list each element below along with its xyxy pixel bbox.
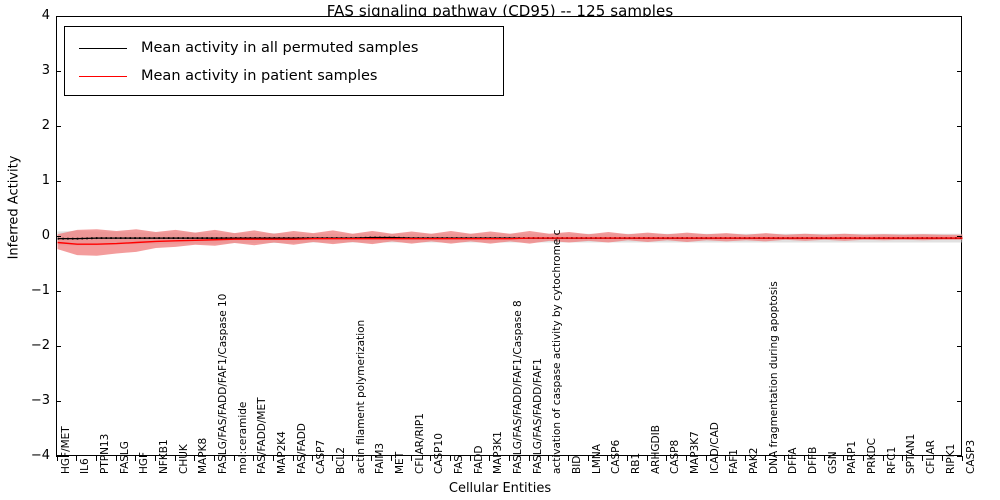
x-tick-mark — [332, 456, 333, 461]
x-tick-mark — [627, 456, 628, 461]
y-tick-label: 4 — [10, 9, 50, 22]
x-tick-label: FAS — [454, 455, 465, 474]
x-tick-label: CFLAR — [926, 440, 937, 474]
x-tick-label: FASLG — [120, 441, 131, 474]
x-tick-mark — [725, 456, 726, 461]
x-tick-mark — [607, 456, 608, 461]
legend-label-patient: Mean activity in patient samples — [141, 68, 377, 84]
x-tick-label: PRKDC — [867, 438, 878, 474]
y-tick-mark — [957, 181, 962, 182]
x-tick-mark — [352, 456, 353, 461]
x-tick-mark — [883, 456, 884, 461]
x-tick-mark — [784, 456, 785, 461]
x-tick-label: FAS/FADD — [297, 423, 308, 474]
y-tick-mark — [957, 291, 962, 292]
x-tick-mark — [666, 456, 667, 461]
legend-swatch-patient — [79, 76, 127, 77]
x-tick-label: SPTAN1 — [906, 434, 917, 474]
x-tick-label: MAPK8 — [198, 438, 209, 474]
x-tick-label: FAF1 — [729, 449, 740, 474]
x-tick-label: PARP1 — [847, 441, 858, 474]
x-tick-mark — [568, 456, 569, 461]
x-tick-mark — [214, 456, 215, 461]
x-tick-mark — [804, 456, 805, 461]
x-tick-label: DFFB — [808, 447, 819, 474]
y-tick-label: 2 — [10, 119, 50, 132]
y-tick-mark — [56, 16, 61, 17]
x-tick-label: MAP3K1 — [493, 431, 504, 474]
x-tick-mark — [371, 456, 372, 461]
x-tick-label: DFFA — [788, 448, 799, 474]
x-tick-mark — [76, 456, 77, 461]
x-tick-mark — [529, 456, 530, 461]
x-tick-mark — [391, 456, 392, 461]
x-tick-mark — [312, 456, 313, 461]
x-tick-label: HGF — [139, 452, 150, 474]
x-tick-mark — [116, 456, 117, 461]
x-tick-label: MAP3K7 — [690, 431, 701, 474]
x-tick-mark — [253, 456, 254, 461]
x-tick-label: FAIM3 — [375, 443, 386, 474]
figure: FAS signaling pathway (CD95) -- 125 samp… — [0, 0, 1000, 500]
x-tick-mark — [902, 456, 903, 461]
x-tick-label: RIPK1 — [946, 444, 957, 474]
y-tick-mark — [56, 236, 61, 237]
y-tick-mark — [957, 126, 962, 127]
legend-label-permuted: Mean activity in all permuted samples — [141, 40, 418, 56]
x-tick-label: RB1 — [631, 453, 642, 474]
legend-swatch-permuted — [79, 48, 127, 49]
x-tick-label: CASP8 — [670, 440, 681, 474]
x-tick-mark — [489, 456, 490, 461]
y-tick-label: −3 — [10, 394, 50, 407]
x-tick-label: DNA fragmentation during apoptosis — [769, 281, 780, 474]
x-tick-label: FASLG/FAS/FADD/FAF1/Caspase 8 — [513, 300, 524, 474]
y-tick-mark — [56, 181, 61, 182]
x-tick-mark — [135, 456, 136, 461]
x-tick-mark — [824, 456, 825, 461]
y-tick-mark — [957, 236, 962, 237]
x-tick-label: CASP3 — [966, 440, 977, 474]
x-tick-mark — [647, 456, 648, 461]
x-tick-label: activation of caspase activity by cytoch… — [552, 230, 563, 474]
legend: Mean activity in all permuted samples Me… — [64, 26, 504, 96]
x-tick-label: CHUK — [179, 444, 190, 474]
y-tick-label: 3 — [10, 64, 50, 77]
x-tick-mark — [942, 456, 943, 461]
y-tick-label: −4 — [10, 449, 50, 462]
x-tick-label: MAP2K4 — [277, 431, 288, 474]
x-tick-label: IL6 — [80, 458, 91, 474]
y-tick-mark — [56, 291, 61, 292]
x-tick-label: FAS/FADD/MET — [257, 397, 268, 474]
x-tick-mark — [686, 456, 687, 461]
x-tick-mark — [430, 456, 431, 461]
x-tick-mark — [470, 456, 471, 461]
x-tick-mark — [57, 456, 58, 461]
y-tick-label: 0 — [10, 229, 50, 242]
x-tick-label: LMNA — [592, 444, 603, 474]
x-tick-label: CASP6 — [611, 440, 622, 474]
x-tick-label: GSN — [828, 451, 839, 474]
y-tick-mark — [56, 346, 61, 347]
x-tick-label: RFC1 — [887, 447, 898, 474]
x-tick-label: ICAD/CAD — [710, 422, 721, 474]
y-tick-label: 1 — [10, 174, 50, 187]
x-tick-label: MET — [395, 452, 406, 474]
x-tick-label: PTPN13 — [100, 434, 111, 474]
x-tick-mark — [962, 456, 963, 461]
x-tick-label: actin filament polymerization — [356, 320, 367, 474]
x-tick-mark — [411, 456, 412, 461]
x-tick-mark — [765, 456, 766, 461]
x-tick-label: FASLG/FAS/FADD/FAF1/Caspase 10 — [218, 294, 229, 474]
x-tick-mark — [273, 456, 274, 461]
x-axis-label: Cellular Entities — [0, 481, 1000, 496]
y-tick-mark — [957, 71, 962, 72]
x-tick-label: PAK2 — [749, 448, 760, 474]
x-tick-mark — [588, 456, 589, 461]
legend-item-patient: Mean activity in patient samples — [75, 62, 493, 90]
x-tick-label: NFKB1 — [159, 439, 170, 474]
x-tick-label: CASP10 — [434, 433, 445, 474]
x-tick-mark — [194, 456, 195, 461]
legend-item-permuted: Mean activity in all permuted samples — [75, 34, 493, 62]
x-tick-mark — [548, 456, 549, 461]
x-tick-mark — [293, 456, 294, 461]
x-tick-mark — [706, 456, 707, 461]
x-tick-label: FASLG/FAS/FADD/FAF1 — [533, 358, 544, 474]
x-tick-label: BID — [572, 456, 583, 474]
x-tick-mark — [175, 456, 176, 461]
x-tick-label: HGF/MET — [61, 426, 72, 474]
y-tick-mark — [56, 126, 61, 127]
x-tick-mark — [509, 456, 510, 461]
y-tick-label: −1 — [10, 284, 50, 297]
x-tick-mark — [745, 456, 746, 461]
x-tick-label: CASP7 — [316, 440, 327, 474]
x-tick-mark — [234, 456, 235, 461]
x-tick-mark — [922, 456, 923, 461]
y-tick-mark — [957, 401, 962, 402]
y-tick-mark — [957, 346, 962, 347]
y-tick-mark — [957, 16, 962, 17]
x-tick-label: mol:ceramide — [238, 402, 249, 474]
x-tick-label: CFLAR/RIP1 — [415, 413, 426, 474]
x-tick-mark — [843, 456, 844, 461]
x-tick-label: BCL2 — [336, 447, 347, 474]
x-tick-mark — [96, 456, 97, 461]
y-tick-mark — [56, 71, 61, 72]
x-tick-label: FADD — [474, 446, 485, 474]
y-tick-label: −2 — [10, 339, 50, 352]
x-tick-mark — [863, 456, 864, 461]
x-tick-mark — [450, 456, 451, 461]
x-tick-mark — [155, 456, 156, 461]
x-tick-label: ARHGDIB — [651, 425, 662, 474]
y-tick-mark — [56, 401, 61, 402]
